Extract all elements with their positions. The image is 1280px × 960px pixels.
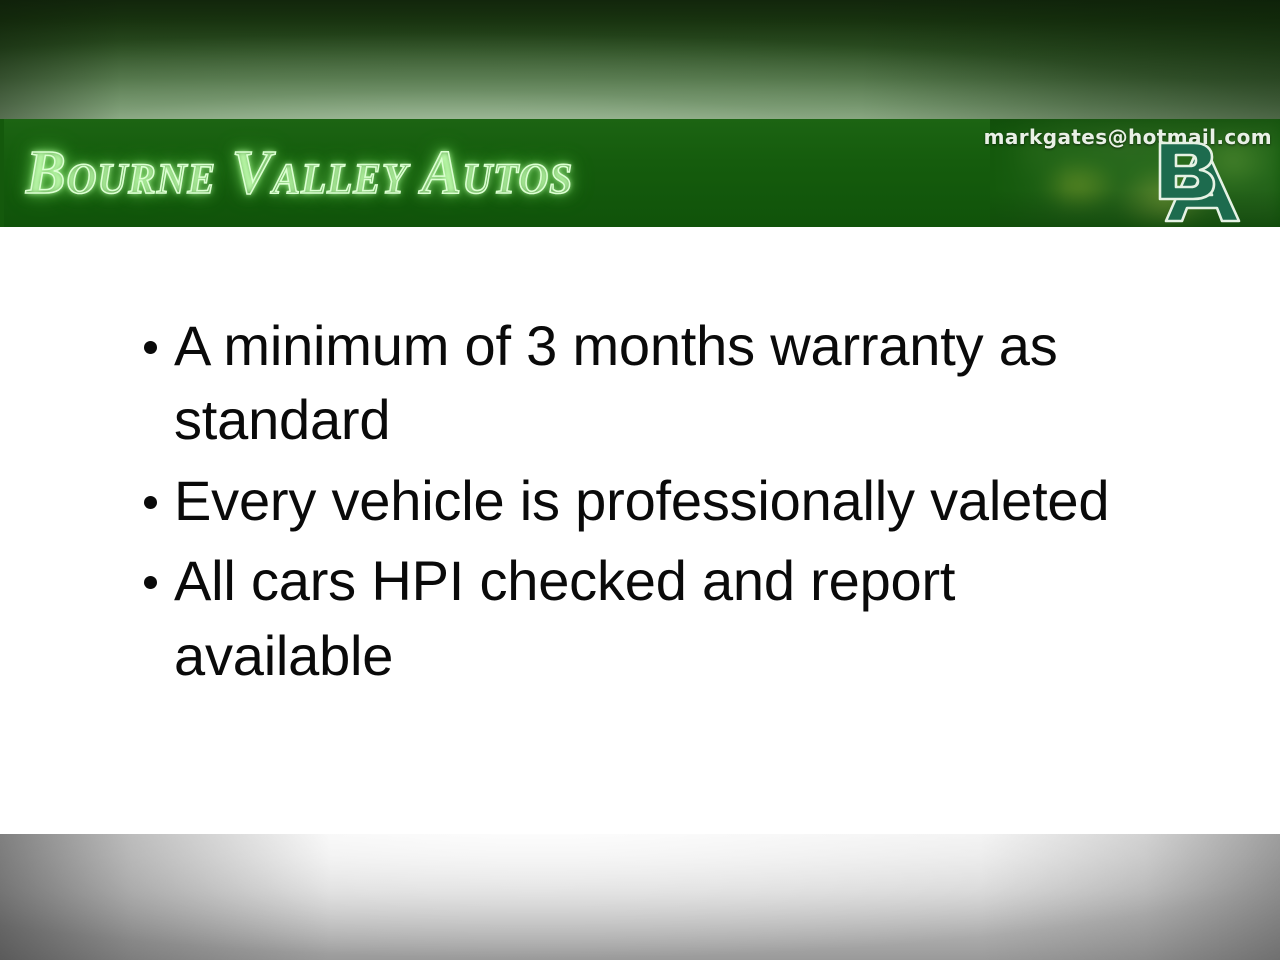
monogram-letter-b-shape [1160, 143, 1214, 199]
header-banner: Bourne Valley Autos markgates@hotmail.co… [0, 119, 1280, 227]
header-banner-fill: Bourne Valley Autos markgates@hotmail.co… [4, 119, 1280, 227]
slide-canvas: Bourne Valley Autos markgates@hotmail.co… [0, 0, 1280, 960]
company-wordmark: Bourne Valley Autos [26, 136, 573, 210]
slide-body: A minimum of 3 months warranty as standa… [0, 227, 1280, 834]
bullet-item: All cars HPI checked and report availabl… [140, 544, 1150, 693]
bva-monogram-logo [1138, 137, 1258, 225]
top-decorative-band [0, 0, 1280, 119]
bullet-list: A minimum of 3 months warranty as standa… [140, 309, 1150, 699]
bullet-item: Every vehicle is professionally valeted [140, 464, 1150, 538]
bullet-item: A minimum of 3 months warranty as standa… [140, 309, 1150, 458]
bottom-decorative-band [0, 834, 1280, 960]
